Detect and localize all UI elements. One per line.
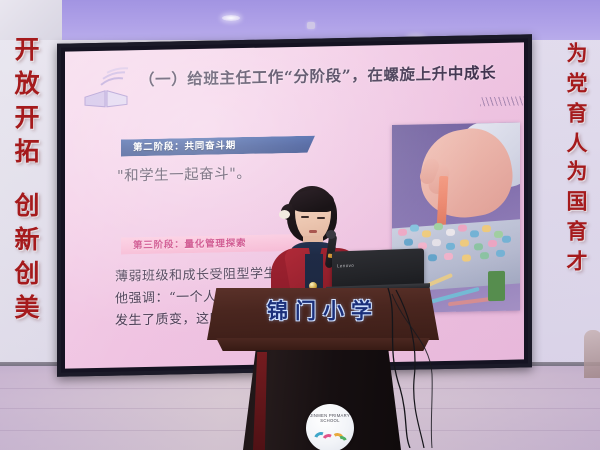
presentation-scene: 开放开拓 创新创美 为党育人 为国育才 bbox=[0, 0, 600, 450]
speaker-eye bbox=[317, 217, 325, 219]
cable-group bbox=[380, 288, 450, 448]
wall-calligraphy-left-line1: 开放开拓 bbox=[13, 36, 38, 172]
cable bbox=[396, 290, 424, 448]
title-underline-decoration bbox=[480, 96, 524, 106]
stage-three-body-line: 薄弱班级和成长受阻型学生 bbox=[115, 262, 277, 284]
wall-calligraphy-left-line2: 创新创美 bbox=[13, 192, 38, 328]
stage-two-body-line: "和学生一起奋斗"。 bbox=[117, 162, 251, 186]
spotlight-icon bbox=[222, 15, 240, 21]
cable bbox=[388, 288, 410, 448]
laptop-brand-label: Lenovo bbox=[337, 263, 354, 269]
wall-calligraphy-right-line1: 为党育人 bbox=[566, 42, 587, 162]
cable bbox=[392, 294, 432, 448]
smoke-detector-icon bbox=[307, 22, 315, 29]
slide-title: （一）给班主任工作“分阶段”，在螺旋上升中成长 bbox=[139, 62, 524, 91]
speaker-hair-fringe bbox=[292, 190, 334, 212]
speaker-mouth bbox=[309, 230, 317, 233]
school-logo-text: JINMEN PRIMARY SCHOOL bbox=[306, 413, 354, 423]
ceiling-corner bbox=[0, 0, 62, 40]
photo-chalk-box-label-secondary bbox=[488, 271, 505, 301]
background-person bbox=[584, 330, 600, 378]
speaker-eye bbox=[301, 216, 309, 218]
school-logo-badge: JINMEN PRIMARY SCHOOL bbox=[306, 404, 354, 450]
wall-calligraphy-right-line2: 为国育才 bbox=[566, 160, 587, 280]
speaker-hair-clip bbox=[279, 210, 290, 219]
stage-two-banner: 第二阶段：共同奋斗期 bbox=[121, 136, 315, 157]
microphone-head bbox=[326, 230, 336, 239]
open-book-icon bbox=[81, 66, 133, 111]
